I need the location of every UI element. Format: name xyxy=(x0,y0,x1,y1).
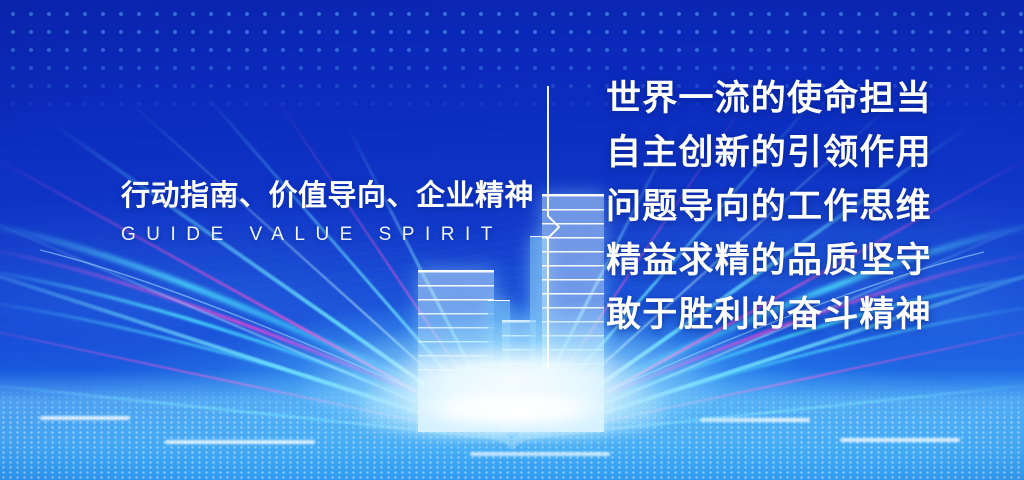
tower-right-back xyxy=(530,236,548,432)
slogan-line: 世界一流的使命担当 xyxy=(606,72,1006,126)
ground-dash xyxy=(165,440,315,444)
ground-dash xyxy=(700,418,810,422)
ground-plane xyxy=(0,370,1024,480)
banner-subtitle-en: GUIDE VALUE SPIRIT xyxy=(121,225,501,246)
tower-mid xyxy=(502,320,536,432)
tower-mid-back xyxy=(488,300,510,432)
slogan-line: 自主创新的引领作用 xyxy=(606,126,1006,180)
slogan-line: 问题导向的工作思维 xyxy=(606,180,1006,234)
ground-dash xyxy=(840,438,960,442)
horizon-core-glow xyxy=(362,374,662,438)
slogan-line: 敢于胜利的奋斗精神 xyxy=(606,288,1006,342)
left-text-block: 行动指南、价值导向、企业精神 GUIDE VALUE SPIRIT xyxy=(121,178,501,246)
tower-left xyxy=(418,270,494,432)
tower-right xyxy=(542,194,604,432)
ground-dash xyxy=(470,452,610,456)
slogan-list: 世界一流的使命担当 自主创新的引领作用 问题导向的工作思维 精益求精的品质坚守 … xyxy=(606,72,1006,342)
vertical-divider xyxy=(542,86,564,368)
banner-title-cn: 行动指南、价值导向、企业精神 xyxy=(121,178,501,214)
slogan-line: 精益求精的品质坚守 xyxy=(606,234,1006,288)
ground-dash xyxy=(40,416,130,420)
ground-dot-grid xyxy=(0,385,1024,480)
hero-banner: chevron-right-icon 行动指南、价值导向、企业精神 GUIDE … xyxy=(0,0,1024,480)
